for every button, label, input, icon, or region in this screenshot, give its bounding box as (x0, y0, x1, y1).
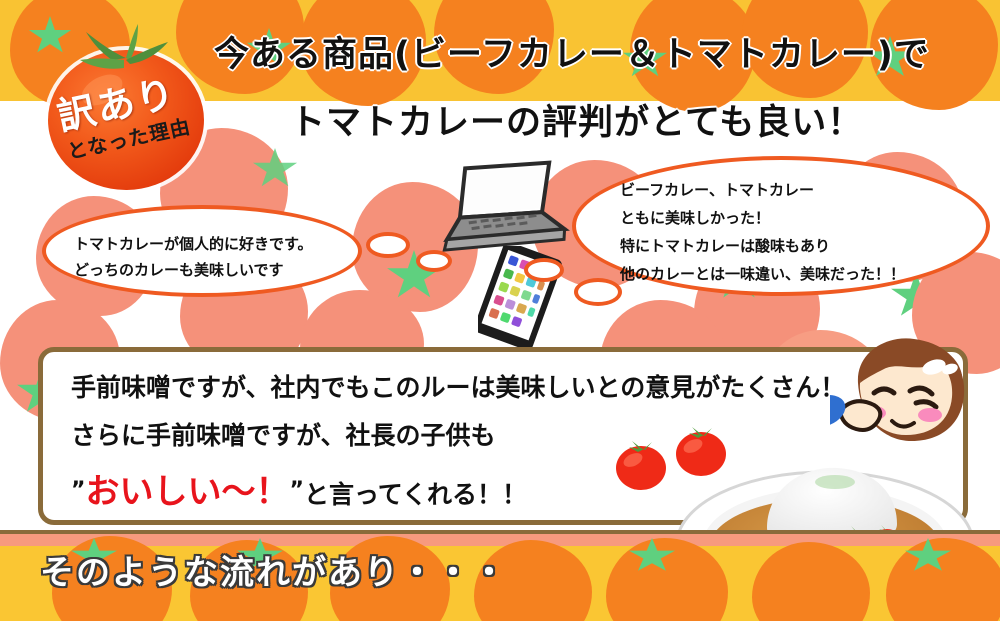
speech-bubble-left-text: トマトカレーが個人的に好きです。 どっちのカレーも美味しいです (74, 231, 313, 283)
highlight-oishii: おいしい～！ (85, 472, 289, 512)
speech-bubble-left-line-1: トマトカレーが個人的に好きです。 (74, 235, 313, 253)
speech-bubble-right-line-1: ビーフカレー、トマトカレー (620, 181, 814, 199)
main-box-line-3: ”おいしい～！”と言ってくれる！！ (71, 464, 527, 513)
speech-bubble-right-line-2: ともに美味しかった！ (620, 209, 770, 227)
speech-bubble-right-text: ビーフカレー、トマトカレー ともに美味しかった！ 特にトマトカレーは酸味もあり … (620, 176, 905, 288)
page-title-line-2: トマトカレーの評判がとても良い！ (290, 94, 863, 145)
speech-bubble-right-tail-dot (574, 278, 622, 306)
page-title-line-1: 今ある商品(ビーフカレー＆トマトカレー)で (214, 26, 930, 77)
child-eating-face-icon (830, 337, 970, 447)
tomato-icon (612, 438, 670, 492)
speech-bubble-left-tail-dot (416, 250, 452, 272)
speech-bubble-right-line-4: 他のカレーとは一味違い、美味だった！！ (620, 265, 905, 283)
speech-bubble-left: トマトカレーが個人的に好きです。 どっちのカレーも美味しいです (42, 205, 362, 297)
main-box-line-3-rest: と言ってくれる！！ (304, 480, 527, 509)
quote-close: ” (289, 478, 303, 503)
speech-bubble-right-line-3: 特にトマトカレーは酸味もあり (620, 237, 830, 255)
speech-bubble-right-tail-dot (524, 258, 564, 282)
speech-bubble-right: ビーフカレー、トマトカレー ともに美味しかった！ 特にトマトカレーは酸味もあり … (572, 156, 990, 296)
speech-bubble-left-tail-dot (366, 232, 410, 258)
speech-bubble-left-line-2: どっちのカレーも美味しいです (74, 261, 284, 279)
promo-banner: 訳あり となった理由 今ある商品(ビーフカレー＆トマトカレー)で トマトカレーの… (0, 0, 1000, 621)
bottom-caption: そのような流れがあり・・・ (40, 545, 508, 594)
main-box-line-1: 手前味噌ですが、社内でもこのルーは美味しいとの意見がたくさん！ (71, 368, 845, 404)
main-box-line-2: さらに手前味噌ですが、社長の子供も (71, 416, 496, 452)
quote-open: ” (71, 478, 85, 503)
